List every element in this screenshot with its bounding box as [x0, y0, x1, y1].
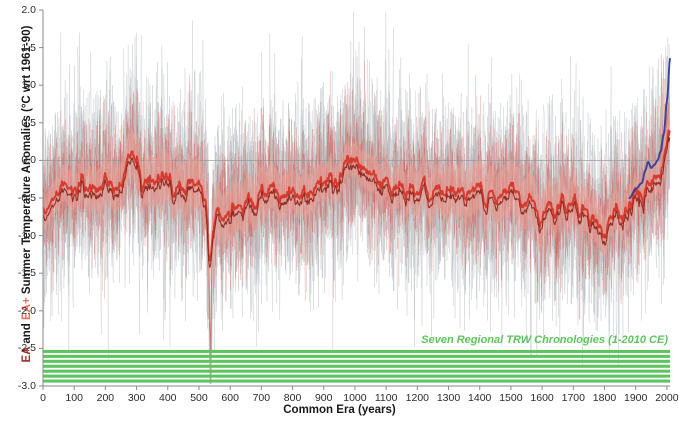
chart-figure: EA and EA+ Summer Temperature Anomalies …: [0, 0, 679, 424]
x-axis-title: Common Era (years): [0, 404, 679, 416]
chronology-bars-group: [43, 350, 670, 383]
chronology-bar: [43, 370, 670, 373]
chronology-legend-label: Seven Regional TRW Chronologies (1-2010 …: [0, 334, 670, 346]
y-axis-title-ea: EA: [21, 347, 33, 363]
y-axis-title-rest: Summer Temperature Anomalies (°C wrt 196…: [21, 26, 33, 298]
chronology-bar: [43, 355, 670, 358]
chronology-bar: [43, 365, 670, 368]
chronology-bar: [43, 375, 670, 378]
chronology-bar: [43, 380, 670, 383]
chronology-bar: [43, 350, 670, 353]
y-axis-title-ea-plus: EA+: [21, 297, 33, 320]
chronology-bar: [43, 360, 670, 363]
y-axis-title: EA and EA+ Summer Temperature Anomalies …: [21, 0, 33, 389]
plot-canvas: [0, 0, 679, 424]
